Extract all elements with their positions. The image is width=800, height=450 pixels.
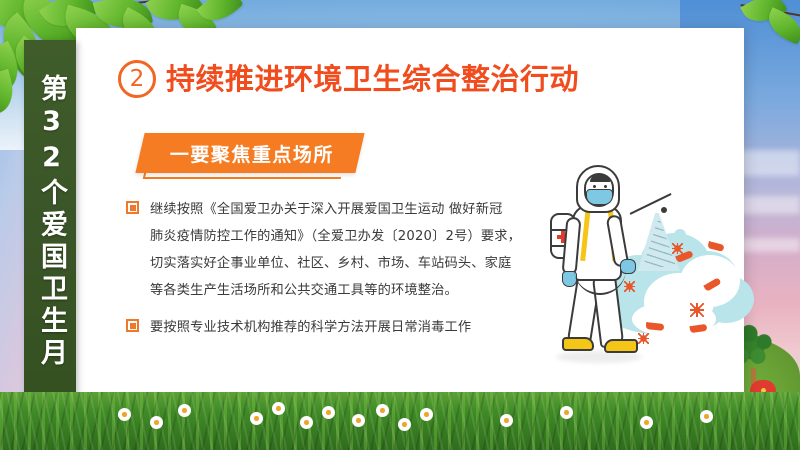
list-item-text: 继续按照《全国爱卫办关于深入开展爱国卫生运动 做好新冠 肺炎疫情防控工作的通知》… [150, 196, 521, 304]
bullet-line: 要按照专业技术机构推荐的科学方法开展日常消毒工作 [150, 314, 471, 341]
sidebar-vertical-banner: 第32个爱国卫生月 [24, 40, 76, 425]
banner-label: 一要聚焦重点场所 [170, 140, 334, 167]
face-mask-icon [586, 189, 613, 205]
banner-shape: 一要聚焦重点场所 [135, 133, 364, 173]
body-content: 继续按照《全国爱卫办关于深入开展爱国卫生运动 做好新冠 肺炎疫情防控工作的通知》… [126, 196, 546, 351]
bullet-line: 继续按照《全国爱卫办关于深入开展爱国卫生运动 做好新冠 [150, 196, 521, 223]
bullet-line: 肺炎疫情防控工作的通知》（全爱卫办发〔2020〕2号）要求， [150, 223, 521, 250]
section-number-badge: 2 [118, 60, 156, 98]
boot-icon [562, 337, 594, 351]
boot-icon [604, 339, 638, 353]
list-item-text: 要按照专业技术机构推荐的科学方法开展日常消毒工作 [150, 314, 471, 341]
disinfection-illustration [548, 155, 758, 385]
section-banner: 一要聚焦重点场所 [140, 133, 360, 173]
bullet-line: 切实落实好企事业单位、社区、乡村、市场、车站码头、家庭 [150, 250, 521, 277]
square-bullet-icon [126, 319, 139, 332]
grass-decoration [0, 392, 800, 450]
bullet-line: 等各类生产生活场所和公共交通工具等的环境整治。 [150, 277, 521, 304]
page-title-row: 2 持续推进环境卫生综合整治行动 [118, 60, 579, 98]
list-item: 要按照专业技术机构推荐的科学方法开展日常消毒工作 [126, 314, 546, 341]
list-item: 继续按照《全国爱卫办关于深入开展爱国卫生运动 做好新冠 肺炎疫情防控工作的通知》… [126, 196, 546, 304]
sidebar-vertical-title: 第32个爱国卫生月 [35, 74, 65, 370]
slide-root: 第32个爱国卫生月 2 持续推进环境卫生综合整治行动 一要聚焦重点场所 继续按照… [0, 0, 800, 450]
square-bullet-icon [126, 201, 139, 214]
page-title: 持续推进环境卫生综合整治行动 [166, 65, 579, 94]
